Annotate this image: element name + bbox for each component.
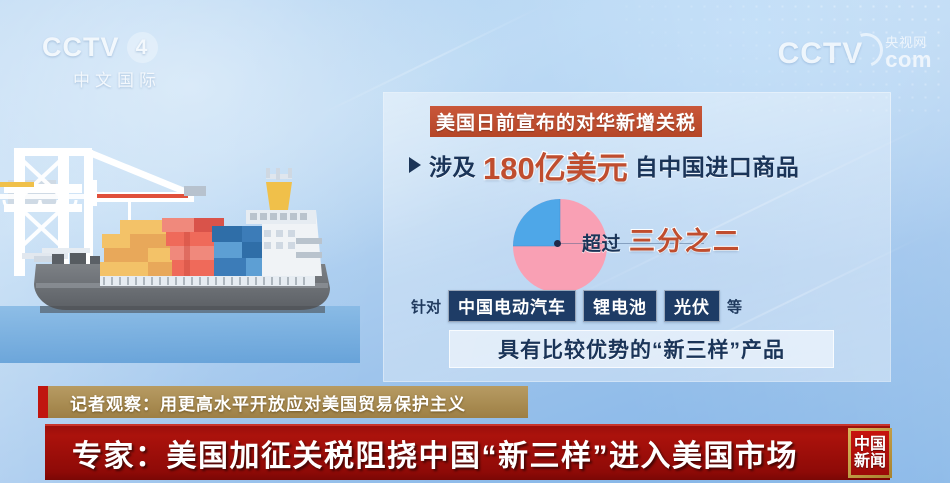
program-badge-line2: 新闻 xyxy=(854,453,886,470)
channel-logo-row: CCTV 4 xyxy=(42,32,192,63)
subheadline-bar: 记者观察：用更高水平开放应对美国贸易保护主义 xyxy=(38,386,528,418)
panel-title: 美国日前宣布的对华新增关税 xyxy=(430,106,702,137)
headline-bar: 专家：美国加征关税阻挠中国“新三样”进入美国市场 xyxy=(45,424,890,480)
cctv-arc-icon xyxy=(863,37,883,71)
program-badge-line1: 中国 xyxy=(854,436,886,453)
watermark-right-stack: 央视网 com xyxy=(885,36,932,71)
cctv4-channel-logo: CCTV 4 中文国际 xyxy=(42,32,192,91)
pie-over-label: 超过 xyxy=(582,229,621,256)
bullet-triangle-icon xyxy=(409,157,421,173)
tariff-prefix: 涉及 xyxy=(429,148,476,182)
panel-summary-box: 具有比较优势的“新三样”产品 xyxy=(449,330,834,368)
subheadline-red-marker xyxy=(38,386,48,418)
pie-center-dot xyxy=(554,240,561,247)
product-chip-lithium-battery[interactable]: 锂电池 xyxy=(583,290,657,322)
container-ship-illustration xyxy=(0,138,360,363)
cctv-com-watermark: CCTV 央视网 com xyxy=(778,36,932,71)
pie-fraction-value: 三分之二 xyxy=(629,221,741,258)
program-badge: 中国 新闻 xyxy=(848,428,892,478)
pie-annotation: 超过 三分之二 xyxy=(582,221,741,258)
chips-trail-label: 等 xyxy=(727,296,742,317)
broadcast-frame: CCTV 4 中文国际 CCTV 央视网 com xyxy=(0,0,950,483)
tariff-amount: 180亿美元 xyxy=(479,143,632,188)
channel-number: 4 xyxy=(127,32,158,63)
tariff-suffix: 自中国进口商品 xyxy=(635,148,800,182)
cctv-wordmark: CCTV xyxy=(42,32,120,63)
headline-text: 专家：美国加征关税阻挠中国“新三样”进入美国市场 xyxy=(45,431,798,475)
target-products-row: 针对 中国电动汽车 锂电池 光伏 等 xyxy=(411,293,871,319)
infographic-panel: 美国日前宣布的对华新增关税 涉及 180亿美元 自中国进口商品 超过 三分之二 … xyxy=(383,92,891,382)
product-chip-ev[interactable]: 中国电动汽车 xyxy=(448,290,576,322)
program-badge-inner: 中国 新闻 xyxy=(851,431,889,475)
channel-subtitle: 中文国际 xyxy=(42,66,192,91)
product-chip-photovoltaic[interactable]: 光伏 xyxy=(664,290,720,322)
cargo-containers xyxy=(100,218,288,276)
chips-lead-label: 针对 xyxy=(411,296,441,317)
tariff-amount-line: 涉及 180亿美元 自中国进口商品 xyxy=(409,148,879,182)
com-label: com xyxy=(885,49,932,71)
subheadline-text: 记者观察：用更高水平开放应对美国贸易保护主义 xyxy=(48,386,528,418)
